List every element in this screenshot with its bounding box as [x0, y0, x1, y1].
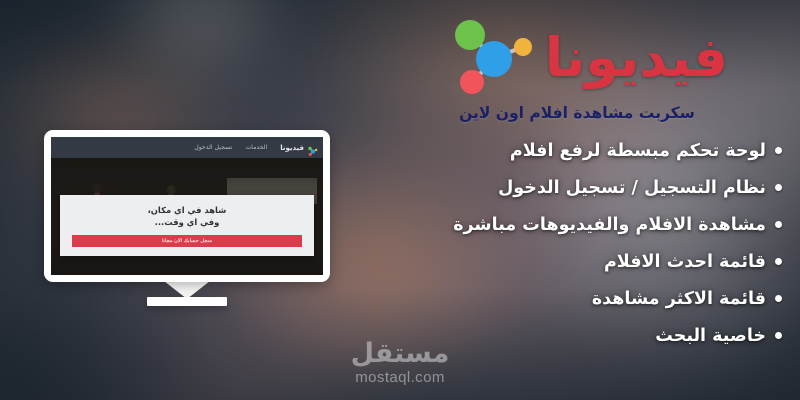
bullet-dot-icon — [775, 295, 782, 302]
hero-headline-line1: شاهد في اي مكان، — [72, 204, 302, 216]
feature-item: لوحة تحكم مبسطة لرفع افلام — [362, 132, 782, 169]
mockup-nav-brand-label: فيديونا — [280, 144, 304, 152]
feature-label: مشاهدة الافلام والفيديوهات مباشرة — [453, 215, 766, 235]
feature-item: خاصية البحث — [362, 317, 782, 354]
feature-label: لوحة تحكم مبسطة لرفع افلام — [510, 141, 766, 161]
brand-block: فيديونا سكربت مشاهدة افلام اون لاين — [416, 14, 786, 122]
node-red — [460, 70, 484, 94]
feature-item: قائمة الاكثر مشاهدة — [362, 280, 782, 317]
bullet-dot-icon — [775, 184, 782, 191]
mockup-nav-link-services[interactable]: الخدمات — [245, 144, 267, 151]
feature-label: قائمة الاكثر مشاهدة — [592, 289, 766, 309]
brand-title: فيديونا — [545, 30, 786, 85]
mockup-nav-brand[interactable]: فيديونا — [280, 142, 318, 153]
node-green — [455, 20, 485, 50]
hero-cta-label: سجل حسابك الان مجانا — [162, 238, 212, 244]
mockup-navbar: فيديونا الخدمات تسجيل الدخول — [51, 137, 323, 158]
bullet-dot-icon — [775, 258, 782, 265]
monitor-base — [147, 297, 227, 306]
bullet-dot-icon — [775, 332, 782, 339]
feature-item: مشاهدة الافلام والفيديوهات مباشرة — [362, 206, 782, 243]
banner-canvas: فيديونا سكربت مشاهدة افلام اون لاين — [0, 0, 800, 400]
monitor-screen: فيديونا الخدمات تسجيل الدخول — [51, 137, 323, 275]
feature-label: خاصية البحث — [655, 326, 766, 346]
brand-title-row: فيديونا — [416, 14, 786, 102]
node-blue — [476, 41, 512, 77]
feature-item: نظام التسجيل / تسجيل الدخول — [362, 169, 782, 206]
mockup-hero-card: شاهد في اي مكان، وفي اي وقت... سجل حسابك… — [60, 195, 314, 256]
molecule-icon — [447, 14, 539, 102]
molecule-icon — [307, 142, 318, 153]
bullet-dot-icon — [775, 221, 782, 228]
hero-cta-button[interactable]: سجل حسابك الان مجانا — [72, 235, 302, 247]
monitor-bezel: فيديونا الخدمات تسجيل الدخول — [44, 130, 330, 282]
brand-subtitle: سكربت مشاهدة افلام اون لاين — [416, 104, 786, 122]
mockup-nav-link-login[interactable]: تسجيل الدخول — [194, 144, 232, 151]
hero-headline-line2: وفي اي وقت... — [72, 216, 302, 228]
node-orange — [514, 38, 532, 56]
feature-item: قائمة احدث الافلام — [362, 243, 782, 280]
monitor-mockup: فيديونا الخدمات تسجيل الدخول — [44, 130, 330, 282]
feature-list: لوحة تحكم مبسطة لرفع افلام نظام التسجيل … — [362, 132, 782, 354]
feature-label: قائمة احدث الافلام — [604, 252, 766, 272]
feature-label: نظام التسجيل / تسجيل الدخول — [498, 178, 766, 198]
bullet-dot-icon — [775, 147, 782, 154]
